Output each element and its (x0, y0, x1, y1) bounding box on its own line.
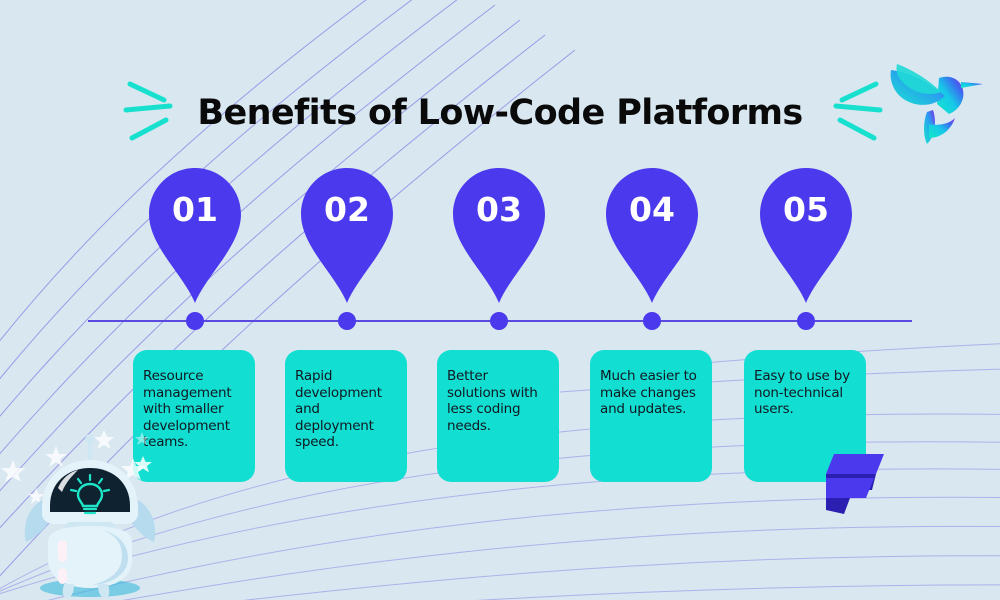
benefit-card-3[interactable]: Better solutions with less coding needs. (437, 350, 559, 482)
benefit-card-2[interactable]: Rapid development and deployment speed. (285, 350, 407, 482)
pin-marker-icon (149, 168, 241, 303)
benefit-card-5-text: Easy to use by non-technical users. (754, 368, 856, 418)
pin-marker-icon (301, 168, 393, 303)
benefit-card-2-text: Rapid development and deployment speed. (295, 368, 397, 451)
pin-marker-icon (760, 168, 852, 303)
timeline-dot-3 (490, 312, 508, 330)
robot-mascot-icon (2, 430, 177, 600)
timeline-pin-4[interactable]: 04 (606, 168, 698, 303)
timeline-pin-5[interactable]: 05 (760, 168, 852, 303)
timeline-pin-1[interactable]: 01 (149, 168, 241, 303)
timeline-pin-2[interactable]: 02 (301, 168, 393, 303)
benefit-card-3-text: Better solutions with less coding needs. (447, 368, 549, 434)
ribbon-logo-icon (826, 448, 898, 520)
pin-marker-icon (453, 168, 545, 303)
sparkle-lines-right-icon (818, 72, 884, 152)
infographic-canvas: Benefits of Low-Code Platforms (0, 0, 1000, 600)
timeline-dot-1 (186, 312, 204, 330)
timeline-dot-5 (797, 312, 815, 330)
benefit-card-4[interactable]: Much easier to make changes and updates. (590, 350, 712, 482)
pin-marker-icon (606, 168, 698, 303)
benefit-card-4-text: Much easier to make changes and updates. (600, 368, 702, 418)
timeline-dot-4 (643, 312, 661, 330)
timeline-dot-2 (338, 312, 356, 330)
page-title: Benefits of Low-Code Platforms (197, 93, 802, 133)
timeline-pin-3[interactable]: 03 (453, 168, 545, 303)
hummingbird-logo-icon (879, 52, 991, 152)
